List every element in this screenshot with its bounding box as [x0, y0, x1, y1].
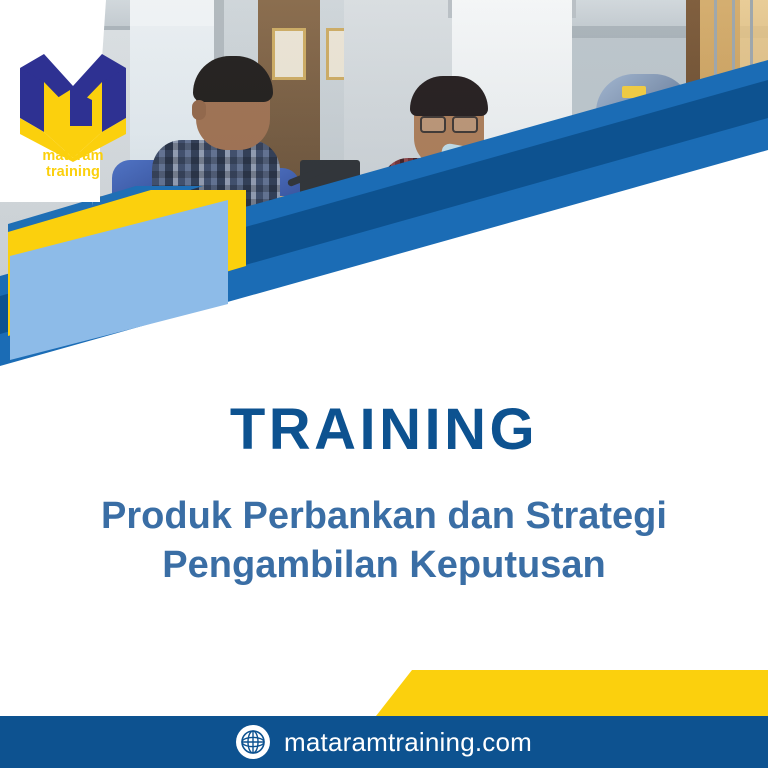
footer-yellow-stripe — [330, 670, 768, 718]
subtitle-line-1: Produk Perbankan dan Strategi — [54, 492, 714, 541]
page-title: TRAINING — [0, 396, 768, 463]
subtitle-line-2: Pengambilan Keputusan — [54, 541, 714, 590]
mataram-m-logo-icon — [14, 42, 132, 162]
page-subtitle: Produk Perbankan dan Strategi Pengambila… — [54, 492, 714, 590]
logo-wordmark: mataram training — [14, 148, 132, 180]
poster-canvas: mataram training TRAINING Produk Perbank… — [0, 0, 768, 768]
footer-content: mataramtraining.com — [0, 716, 768, 768]
globe-icon — [236, 725, 270, 759]
website-url[interactable]: mataramtraining.com — [284, 727, 532, 758]
